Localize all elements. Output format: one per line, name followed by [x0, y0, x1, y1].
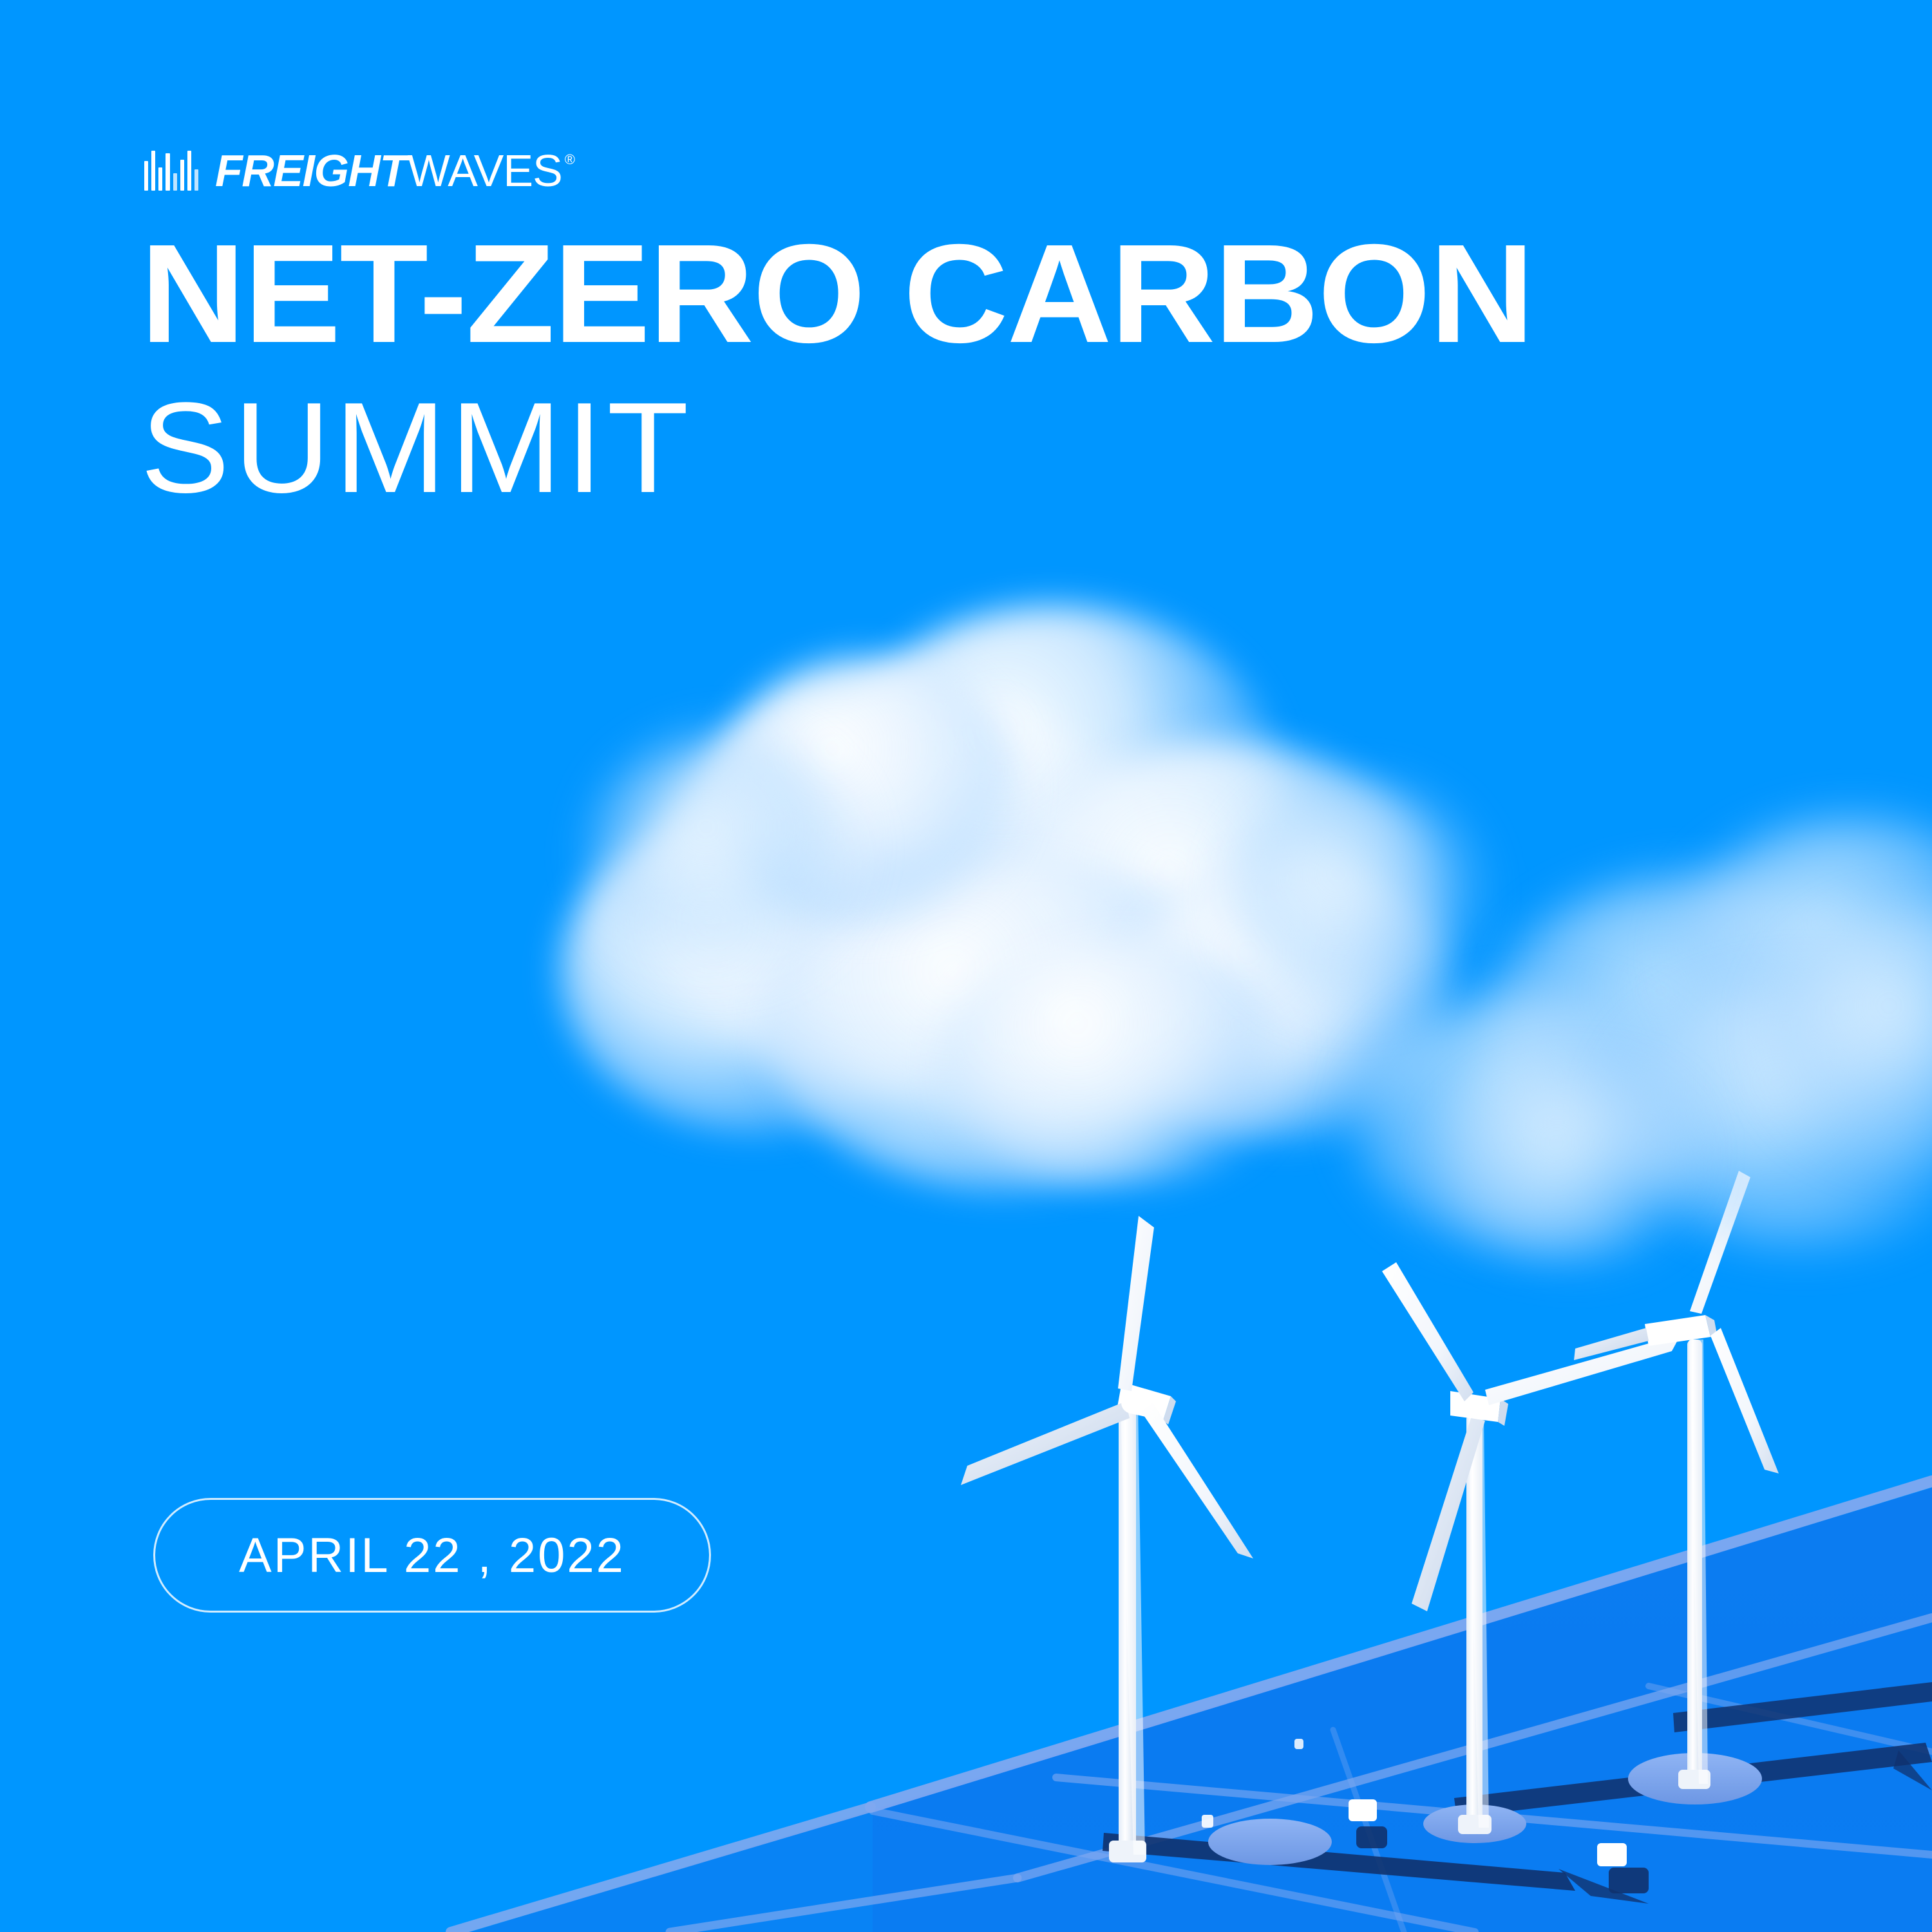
- event-date-badge[interactable]: APRIL 22 , 2022: [153, 1498, 711, 1613]
- logo-wordmark: FREIGHT WAVES ®: [215, 145, 574, 196]
- freightwaves-logo[interactable]: FREIGHT WAVES ®: [144, 146, 574, 196]
- poster-canvas: FREIGHT WAVES ® NET-ZERO CARBON SUMMIT A…: [0, 0, 1932, 1932]
- logo-text-freight: FREIGHT: [215, 145, 406, 196]
- title-line-summit: SUMMIT: [140, 376, 1909, 520]
- event-date-label: APRIL 22 , 2022: [239, 1528, 625, 1584]
- title-line-net-zero-carbon: NET-ZERO CARBON: [140, 223, 1900, 366]
- waveform-bars-icon: [144, 151, 198, 191]
- registered-trademark-icon: ®: [565, 151, 574, 168]
- logo-text-waves: WAVES: [408, 145, 562, 196]
- page-title: NET-ZERO CARBON SUMMIT: [140, 223, 1841, 520]
